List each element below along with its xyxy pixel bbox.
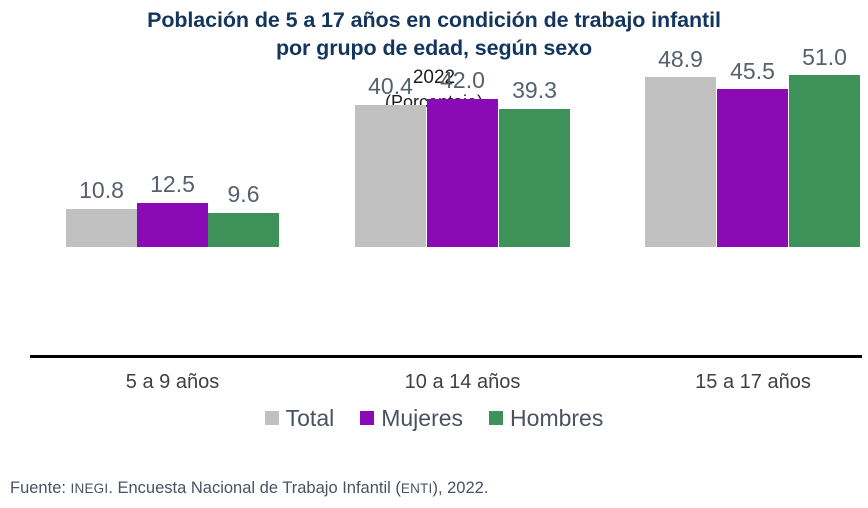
bar-value-label: 48.9 (658, 46, 703, 72)
bar-value-label: 42.0 (440, 67, 485, 93)
x-tick-label-1: 10 a 14 años (355, 369, 570, 395)
chart-source-note: Fuente: INEGI. Encuesta Nacional de Trab… (10, 478, 488, 499)
legend-item-mujeres[interactable]: Mujeres (360, 404, 463, 432)
bar-value-label: 45.5 (730, 58, 775, 84)
plot-area: 10.8 12.5 9.6 40.4 42.0 39.3 (0, 0, 868, 400)
legend-label-mujeres: Mujeres (381, 404, 463, 432)
chart-legend: Total Mujeres Hombres (0, 404, 868, 432)
source-suffix: ), 2022. (432, 479, 488, 497)
source-survey-abbr: ENTI (401, 481, 433, 496)
bar-value-label: 40.4 (368, 73, 413, 99)
bar-value-label: 39.3 (512, 77, 557, 103)
bar-mujeres-g1[interactable] (137, 203, 208, 247)
legend-item-total[interactable]: Total (265, 404, 335, 432)
bar-value-label: 10.8 (79, 177, 124, 203)
legend-label-total: Total (286, 404, 335, 432)
bar-hombres-g3[interactable] (789, 75, 860, 247)
x-tick-label-2: 15 a 17 años (645, 369, 861, 395)
source-middle: . Encuesta Nacional de Trabajo Infantil … (108, 479, 401, 497)
x-tick-label-0: 5 a 9 años (66, 369, 279, 395)
source-prefix: Fuente: (10, 479, 71, 497)
chart-container: Población de 5 a 17 años en condición de… (0, 0, 868, 508)
bar-total-g1[interactable] (66, 209, 137, 247)
legend-swatch-icon-mujeres (360, 411, 374, 425)
legend-swatch-icon-hombres (489, 411, 503, 425)
legend-label-hombres: Hombres (510, 404, 603, 432)
bar-hombres-g2[interactable] (499, 109, 570, 247)
x-axis-category-labels: 5 a 9 años 10 a 14 años 15 a 17 años (0, 369, 868, 399)
bar-total-g3[interactable] (645, 77, 716, 247)
bar-group-10-a-14: 40.4 42.0 39.3 (355, 47, 570, 247)
legend-swatch-icon-total (265, 411, 279, 425)
x-axis-line (30, 355, 862, 358)
bar-value-label: 51.0 (802, 44, 847, 70)
bar-mujeres-g3[interactable] (717, 89, 788, 247)
bar-total-g2[interactable] (355, 105, 426, 247)
source-organization: INEGI (71, 481, 109, 496)
bar-mujeres-g2[interactable] (427, 99, 498, 247)
bar-value-label: 9.6 (228, 181, 260, 207)
bar-value-label: 12.5 (150, 171, 195, 197)
bar-group-15-a-17: 48.9 45.5 51.0 (645, 47, 861, 247)
bar-hombres-g1[interactable] (208, 213, 279, 247)
bar-group-5-a-9: 10.8 12.5 9.6 (66, 47, 279, 247)
legend-item-hombres[interactable]: Hombres (489, 404, 603, 432)
